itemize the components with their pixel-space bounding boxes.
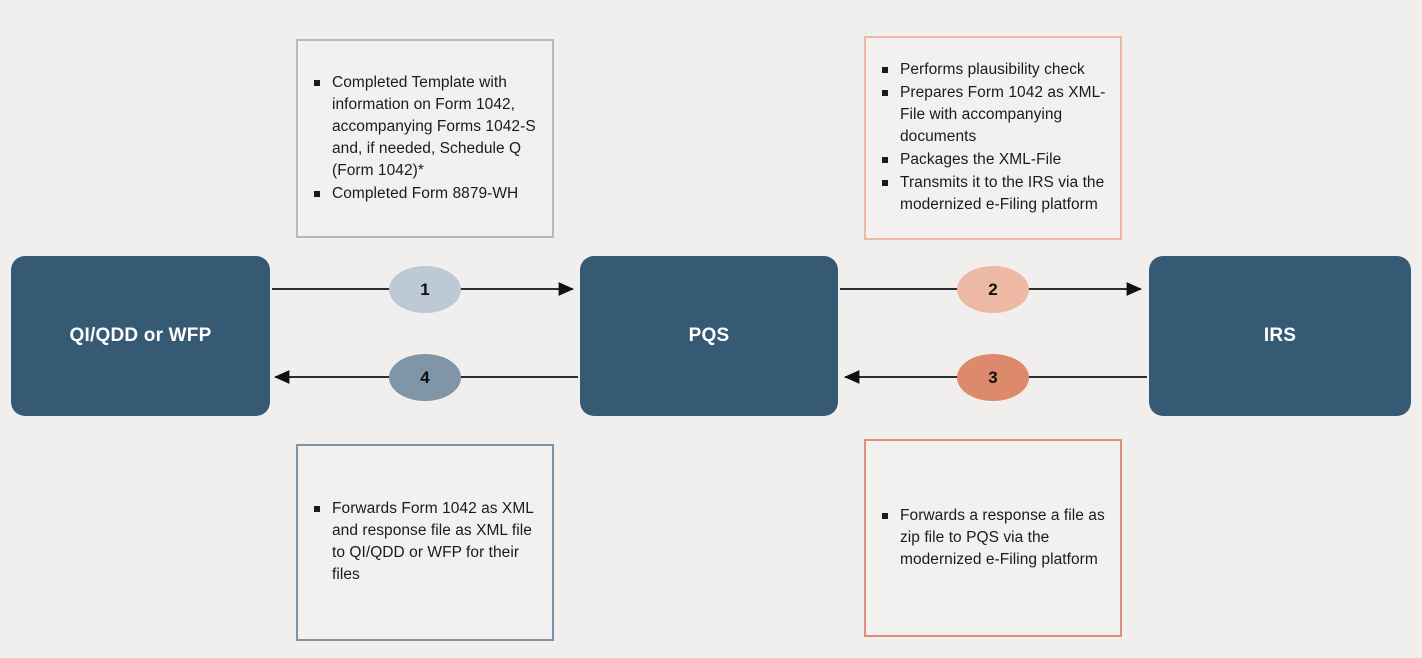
list-item: Performs plausibility check (880, 59, 1106, 81)
step-marker-1[interactable]: 1 (389, 266, 461, 313)
step-marker-3[interactable]: 3 (957, 354, 1029, 401)
list-item: Forwards Form 1042 as XML and response f… (312, 498, 538, 586)
list-item: Transmits it to the IRS via the moderniz… (880, 172, 1106, 216)
step-marker-2[interactable]: 2 (957, 266, 1029, 313)
note-box-step-2: Performs plausibility check Prepares For… (864, 36, 1122, 240)
note-list-step-1: Completed Template with information on F… (298, 72, 552, 206)
actor-box-qi-qdd-or-wfp[interactable]: QI/QDD or WFP (11, 256, 270, 416)
step-number: 3 (988, 368, 997, 388)
step-number: 2 (988, 280, 997, 300)
note-list-step-3: Forwards a response a file as zip file t… (866, 505, 1120, 572)
list-item: Completed Template with information on F… (312, 72, 538, 182)
note-box-step-4: Forwards Form 1042 as XML and response f… (296, 444, 554, 641)
list-item: Completed Form 8879-WH (312, 183, 538, 205)
note-box-step-3: Forwards a response a file as zip file t… (864, 439, 1122, 637)
step-number: 4 (420, 368, 429, 388)
actor-box-pqs[interactable]: PQS (580, 256, 838, 416)
process-flow-diagram: Completed Template with information on F… (0, 0, 1422, 658)
list-item: Packages the XML-File (880, 149, 1106, 171)
step-number: 1 (420, 280, 429, 300)
list-item: Prepares Form 1042 as XML-File with acco… (880, 82, 1106, 148)
step-marker-4[interactable]: 4 (389, 354, 461, 401)
list-item: Forwards a response a file as zip file t… (880, 505, 1106, 571)
note-list-step-2: Performs plausibility check Prepares For… (866, 59, 1120, 217)
actor-label: QI/QDD or WFP (70, 325, 212, 347)
note-box-step-1: Completed Template with information on F… (296, 39, 554, 238)
actor-label: PQS (689, 325, 730, 347)
actor-box-irs[interactable]: IRS (1149, 256, 1411, 416)
note-list-step-4: Forwards Form 1042 as XML and response f… (298, 498, 552, 587)
actor-label: IRS (1264, 325, 1296, 347)
